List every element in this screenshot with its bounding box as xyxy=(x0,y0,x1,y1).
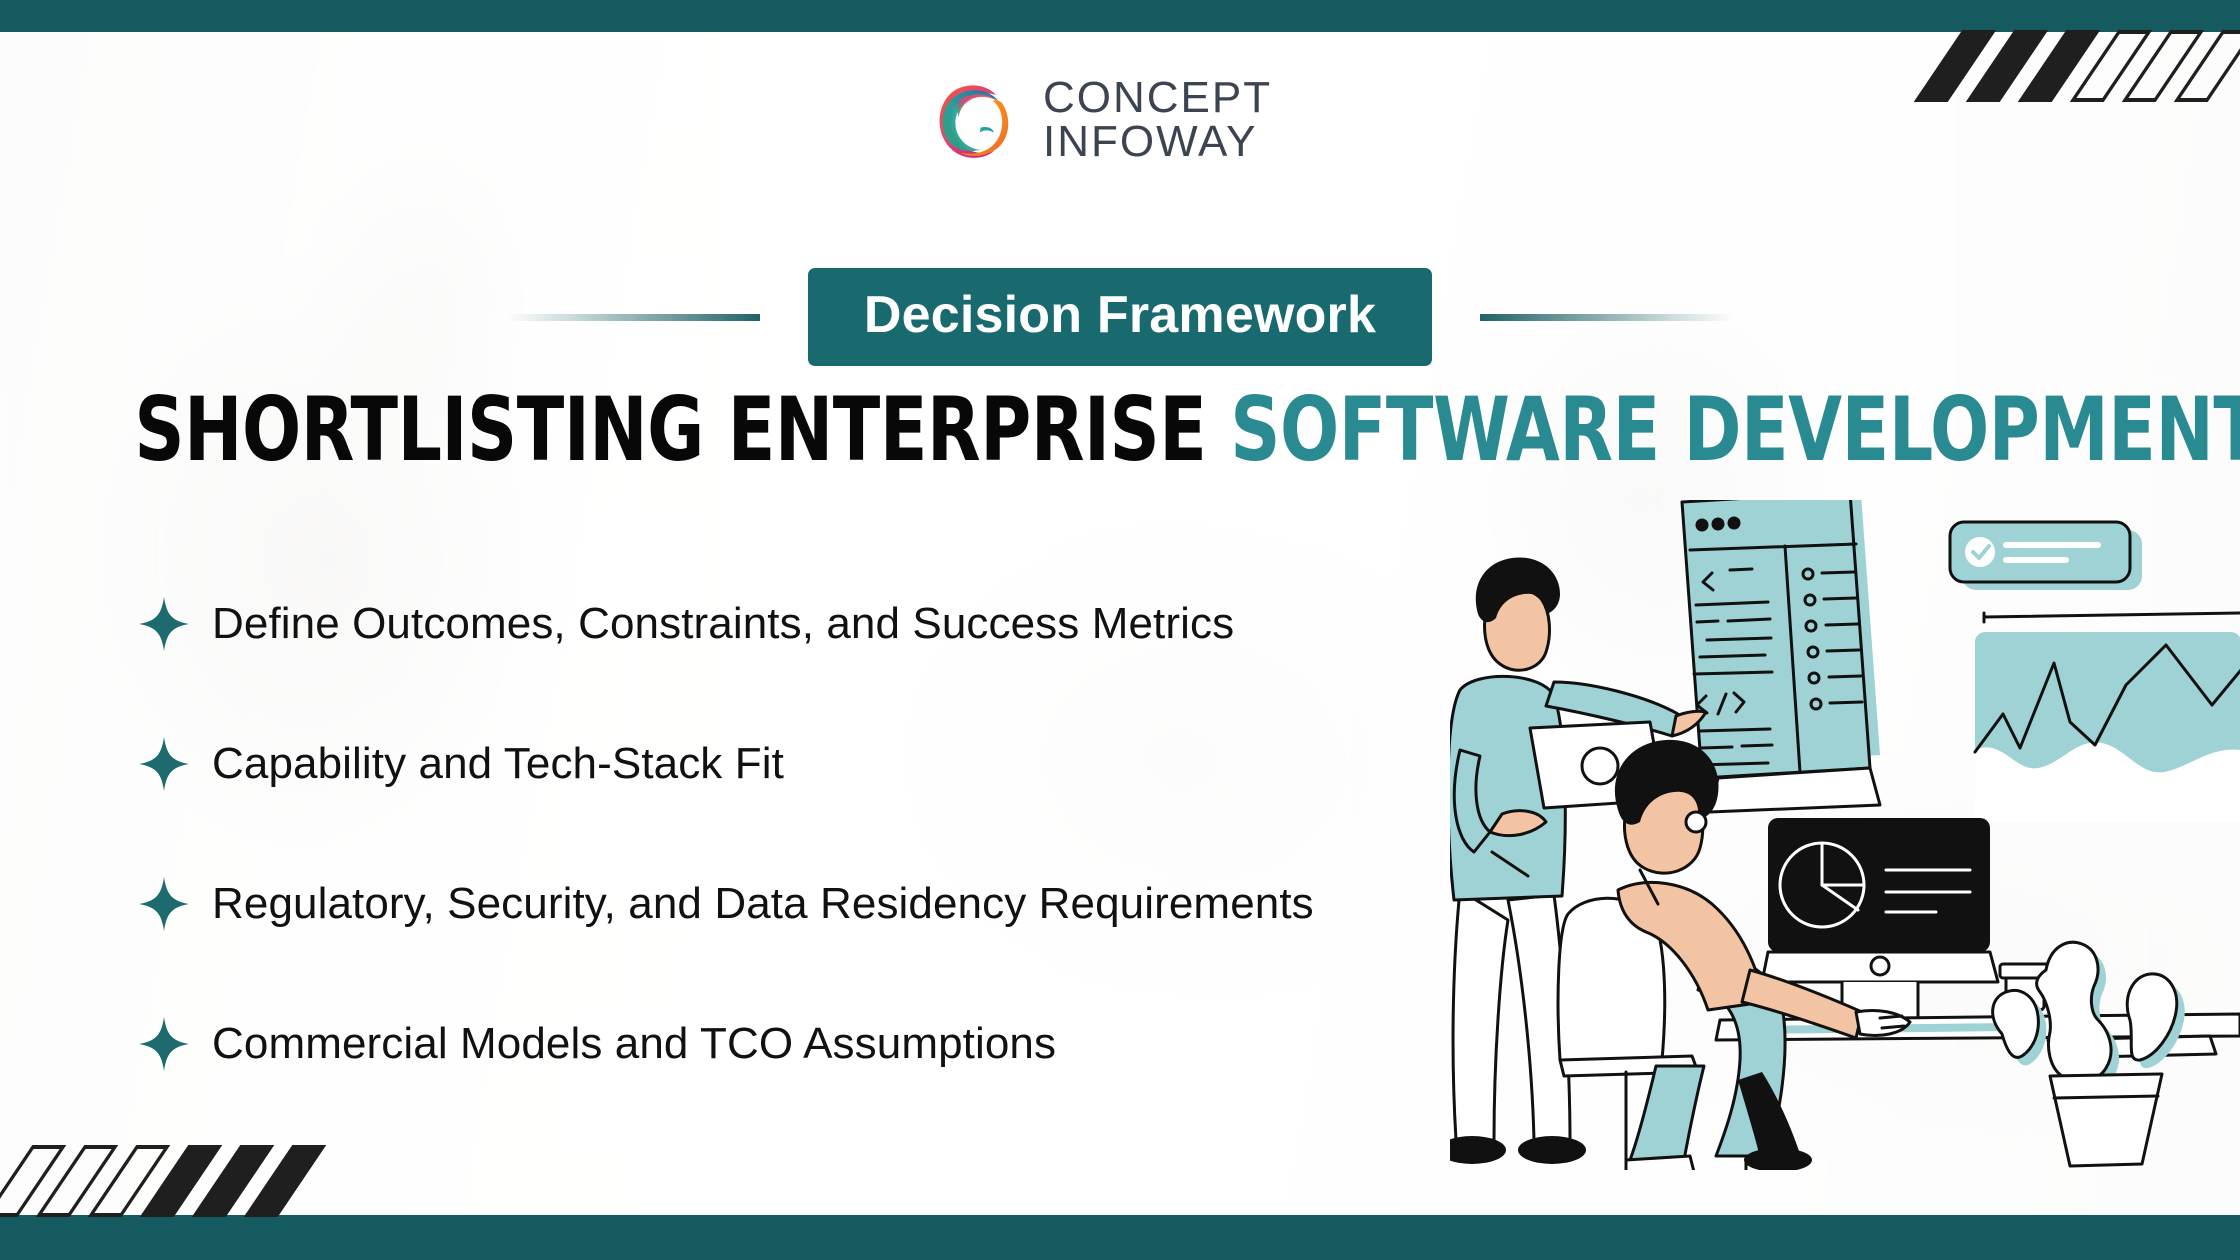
page-title: SHORTLISTING ENTERPRISE SOFTWARE DEVELOP… xyxy=(134,378,2105,481)
decor-stripes-bottom-left xyxy=(8,1145,302,1217)
title-part-2: SOFTWARE DEVELOPMENT xyxy=(1230,378,2240,481)
four-point-star-icon xyxy=(138,736,190,792)
decor-line-right xyxy=(1480,314,1732,321)
decor-stripes-top-right xyxy=(1938,30,2232,102)
list-item-label: Commercial Models and TCO Assumptions xyxy=(212,1019,1056,1069)
line-chart-panel xyxy=(1975,613,2240,822)
list-item-label: Capability and Tech-Stack Fit xyxy=(212,739,784,789)
team-developers-illustration xyxy=(1450,500,2240,1170)
decor-line-left xyxy=(508,314,760,321)
concept-infoway-swirl-icon xyxy=(925,72,1021,168)
eyebrow-row: Decision Framework xyxy=(0,268,2240,366)
slide-canvas: CONCEPT INFOWAY Decision Framework SHORT… xyxy=(0,0,2240,1260)
eyebrow-badge: Decision Framework xyxy=(808,268,1432,366)
checkmark-notification-card xyxy=(1950,522,2142,590)
four-point-star-icon xyxy=(138,876,190,932)
top-accent-bar xyxy=(0,0,2240,32)
list-item-label: Define Outcomes, Constraints, and Succes… xyxy=(212,599,1234,649)
list-item: Commercial Models and TCO Assumptions xyxy=(138,995,1458,1093)
title-part-1: SHORTLISTING ENTERPRISE xyxy=(134,378,1230,481)
list-item: Capability and Tech-Stack Fit xyxy=(138,715,1458,813)
list-item: Regulatory, Security, and Data Residency… xyxy=(138,855,1458,953)
brand-line-2: INFOWAY xyxy=(1043,120,1272,164)
bottom-accent-bar xyxy=(0,1215,2240,1260)
list-item-label: Regulatory, Security, and Data Residency… xyxy=(212,879,1314,929)
brand-line-1: CONCEPT xyxy=(1043,76,1272,120)
brand-logo: CONCEPT INFOWAY xyxy=(925,72,1272,168)
bullet-list: Define Outcomes, Constraints, and Succes… xyxy=(138,575,1458,1135)
brand-wordmark: CONCEPT INFOWAY xyxy=(1043,76,1272,164)
list-item: Define Outcomes, Constraints, and Succes… xyxy=(138,575,1458,673)
four-point-star-icon xyxy=(138,596,190,652)
four-point-star-icon xyxy=(138,1016,190,1072)
